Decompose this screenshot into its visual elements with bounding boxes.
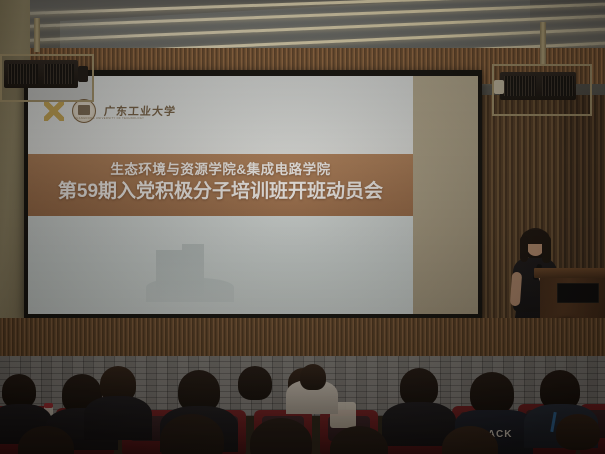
presenter-hair-left (520, 236, 528, 262)
projector-vent (542, 76, 574, 96)
hammer-and-sickle-emblem (44, 101, 64, 121)
slide-title-line-1: 生态环境与资源学院&集成电路学院 (28, 158, 413, 178)
projector-vent (44, 64, 74, 84)
projector-mount-pole (540, 22, 546, 64)
projector-vent (8, 64, 38, 84)
projector-lens-housing (494, 80, 504, 94)
seated-audience: BACK (0, 360, 605, 454)
slide-footer-haze (28, 226, 413, 314)
auditorium-photo: 广东工业大学 GUANGDONG UNIVERSITY OF TECHNOLOG… (0, 0, 605, 454)
wood-slat-trim-lower (0, 318, 605, 360)
projector-lens-housing (78, 66, 88, 82)
audience-shoulders (84, 396, 152, 440)
projector-mount-pole (34, 18, 40, 52)
projected-slide: 广东工业大学 GUANGDONG UNIVERSITY OF TECHNOLOG… (28, 76, 413, 314)
audience-head (300, 364, 326, 390)
laptop (557, 283, 599, 303)
left-ceiling-projector (0, 52, 92, 100)
audience-head (400, 368, 438, 406)
audience-head (2, 374, 36, 408)
water-bottle-cap (44, 403, 53, 408)
audience-head (470, 372, 514, 414)
presenter-hair-right (542, 236, 551, 263)
right-ceiling-projector (492, 62, 590, 114)
projection-screen-surface: 广东工业大学 GUANGDONG UNIVERSITY OF TECHNOLOG… (28, 76, 478, 314)
lectern-top-surface (534, 268, 605, 278)
screen-unlit-region (413, 76, 478, 314)
audience-head (556, 414, 600, 450)
projector-vent (504, 76, 536, 96)
audience-head (238, 366, 272, 400)
university-wordmark-subtext: GUANGDONG UNIVERSITY OF TECHNOLOGY (74, 117, 144, 120)
slide-title-line-2: 第59期入党积极分子培训班开班动员会 (28, 176, 413, 203)
